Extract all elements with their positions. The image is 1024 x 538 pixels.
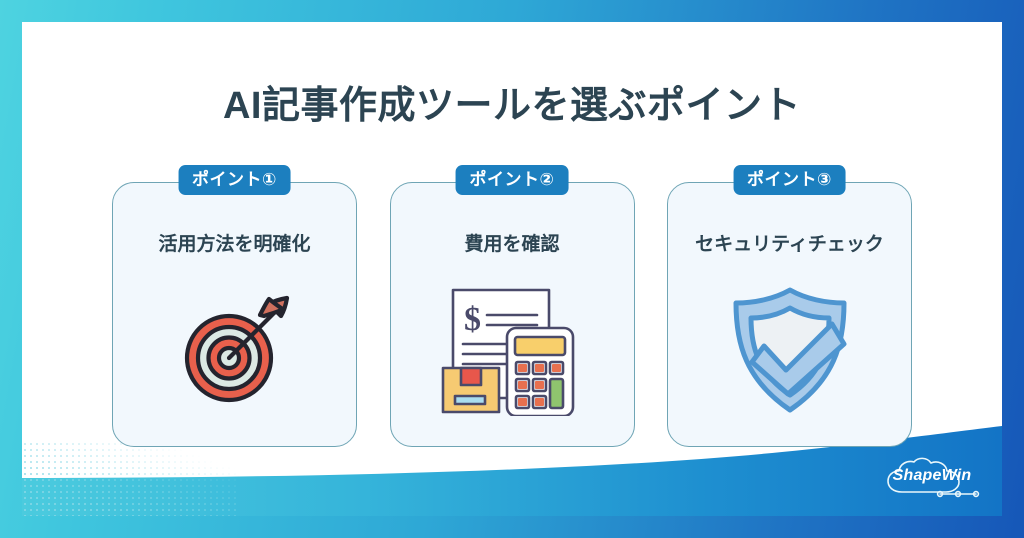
shapewin-logo[interactable]: ShapeWin [880, 456, 984, 502]
slide-canvas: AI記事作成ツールを選ぶポイント ポイント① 活用方法を明確化 [0, 0, 1024, 538]
point-card-3[interactable]: ポイント③ セキュリティチェック [667, 182, 912, 447]
point-badge-1: ポイント① [178, 165, 291, 195]
point-card-title-2: 費用を確認 [391, 229, 634, 256]
shield-check-icon [668, 275, 911, 425]
point-card-title-3: セキュリティチェック [668, 229, 911, 256]
shapewin-logo-text: ShapeWin [880, 467, 984, 485]
point-badge-3: ポイント③ [733, 165, 846, 195]
invoice-calculator-box-icon: $ [391, 275, 634, 425]
point-card-title-1: 活用方法を明確化 [113, 229, 356, 256]
svg-text:$: $ [464, 301, 481, 338]
point-card-1[interactable]: ポイント① 活用方法を明確化 [112, 182, 357, 447]
point-badge-2: ポイント② [456, 165, 569, 195]
points-card-row: ポイント① 活用方法を明確化 ポイント② [112, 182, 912, 447]
page-title: AI記事作成ツールを選ぶポイント [0, 74, 1024, 129]
target-arrow-icon [113, 275, 356, 425]
point-card-2[interactable]: ポイント② 費用を確認 $ [390, 182, 635, 447]
